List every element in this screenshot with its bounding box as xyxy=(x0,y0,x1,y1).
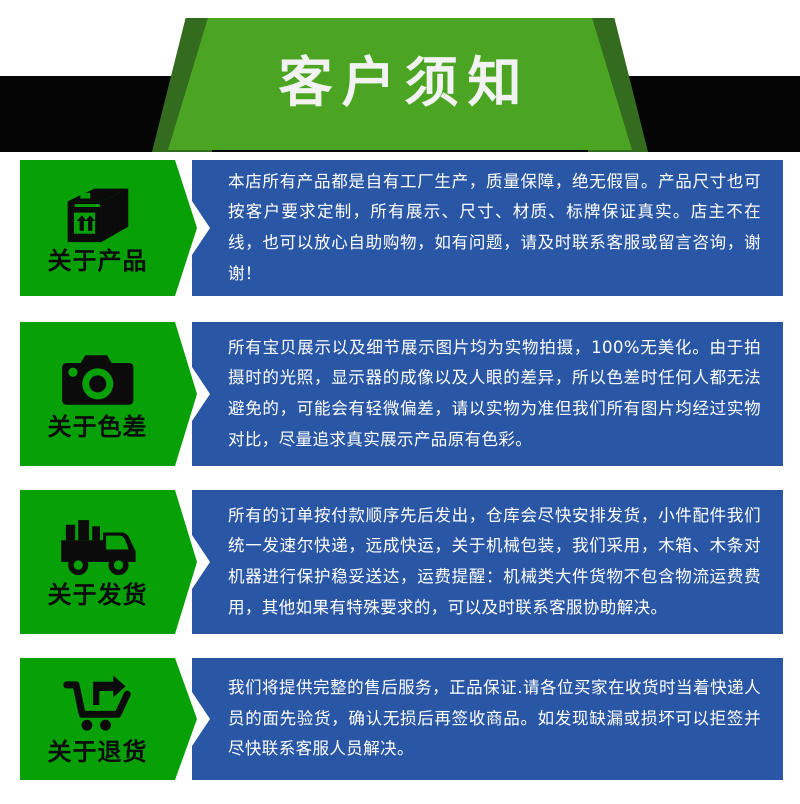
panel-text-shipping: 所有的订单按付款顺序先后发出，仓库会尽快安排发货，小件配件我们统一发速尔快递，远… xyxy=(228,501,761,623)
panel-product: 本店所有产品都是自有工厂生产，质量保障，绝无假冒。产品尺寸也可按客户要求定制，所… xyxy=(192,160,783,296)
panel-text-returns: 我们将提供完整的售后服务，正品保证.请各位买家在收货时当着快递人员的面先验货，确… xyxy=(228,673,761,765)
notice-row-color: 关于色差 所有宝贝展示以及细节展示图片均为实物拍摄，100%无美化。由于拍摄时的… xyxy=(0,322,800,466)
badge-label-product: 关于产品 xyxy=(48,249,148,274)
notice-row-returns: 关于退货 我们将提供完整的售后服务，正品保证.请各位买家在收货时当着快递人员的面… xyxy=(0,658,800,780)
delivery-truck-icon xyxy=(55,517,140,579)
ribbon: 客户须知 xyxy=(168,18,632,150)
badge-returns[interactable]: 关于退货 xyxy=(20,658,175,780)
notice-row-shipping: 关于发货 所有的订单按付款顺序先后发出，仓库会尽快安排发货，小件配件我们统一发速… xyxy=(0,490,800,634)
badge-label-returns: 关于退货 xyxy=(48,740,148,765)
panel-text-product: 本店所有产品都是自有工厂生产，质量保障，绝无假冒。产品尺寸也可按客户要求定制，所… xyxy=(228,167,761,289)
panel-color: 所有宝贝展示以及细节展示图片均为实物拍摄，100%无美化。由于拍摄时的光照，显示… xyxy=(192,322,783,466)
badge-label-color: 关于色差 xyxy=(48,415,148,440)
return-cart-icon xyxy=(59,674,137,736)
panel-text-color: 所有宝贝展示以及细节展示图片均为实物拍摄，100%无美化。由于拍摄时的光照，显示… xyxy=(228,333,761,455)
badge-color[interactable]: 关于色差 xyxy=(20,322,175,466)
notice-section-list: 关于产品 本店所有产品都是自有工厂生产，质量保障，绝无假冒。产品尺寸也可按客户要… xyxy=(0,160,800,804)
header-banner: 客户须知 xyxy=(0,0,800,160)
badge-label-shipping: 关于发货 xyxy=(48,583,148,608)
notice-row-product: 关于产品 本店所有产品都是自有工厂生产，质量保障，绝无假冒。产品尺寸也可按客户要… xyxy=(0,160,800,296)
camera-icon xyxy=(59,349,137,411)
panel-shipping: 所有的订单按付款顺序先后发出，仓库会尽快安排发货，小件配件我们统一发速尔快递，远… xyxy=(192,490,783,634)
panel-returns: 我们将提供完整的售后服务，正品保证.请各位买家在收货时当着快递人员的面先验货，确… xyxy=(192,658,783,780)
badge-product[interactable]: 关于产品 xyxy=(20,160,175,296)
badge-shipping[interactable]: 关于发货 xyxy=(20,490,175,634)
cardboard-box-icon xyxy=(62,183,132,245)
page-title: 客户须知 xyxy=(270,56,531,112)
